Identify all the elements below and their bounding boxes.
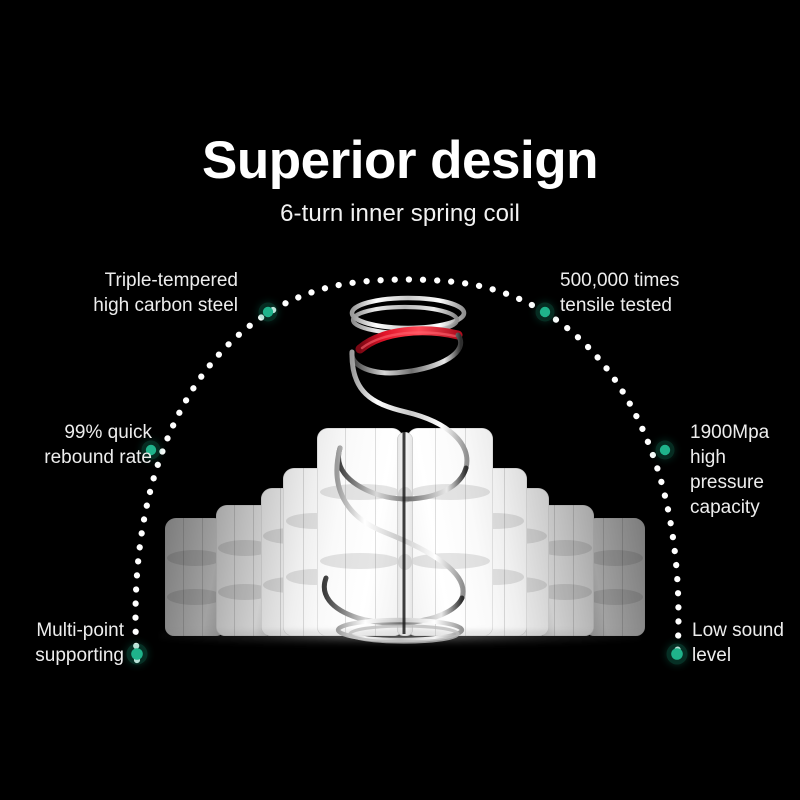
callout-tensile-tested: 500,000 times tensile tested	[560, 268, 679, 318]
page-title: Superior design	[0, 134, 800, 188]
callout-triple-tempered: Triple-tempered high carbon steel	[93, 268, 238, 318]
callout-multi-point: Multi-point supporting	[35, 618, 124, 668]
coil-spring-graphic	[0, 0, 800, 800]
page-subtitle: 6-turn inner spring coil	[0, 200, 800, 228]
callout-pressure-capacity: 1900Mpa high pressure capacity	[690, 420, 800, 520]
callout-quick-rebound: 99% quick rebound rate	[44, 420, 152, 470]
infographic-canvas: Superior design 6-turn inner spring coil…	[0, 0, 800, 800]
callout-low-sound: Low sound level	[692, 618, 784, 668]
spring-product-illustration	[0, 0, 800, 800]
